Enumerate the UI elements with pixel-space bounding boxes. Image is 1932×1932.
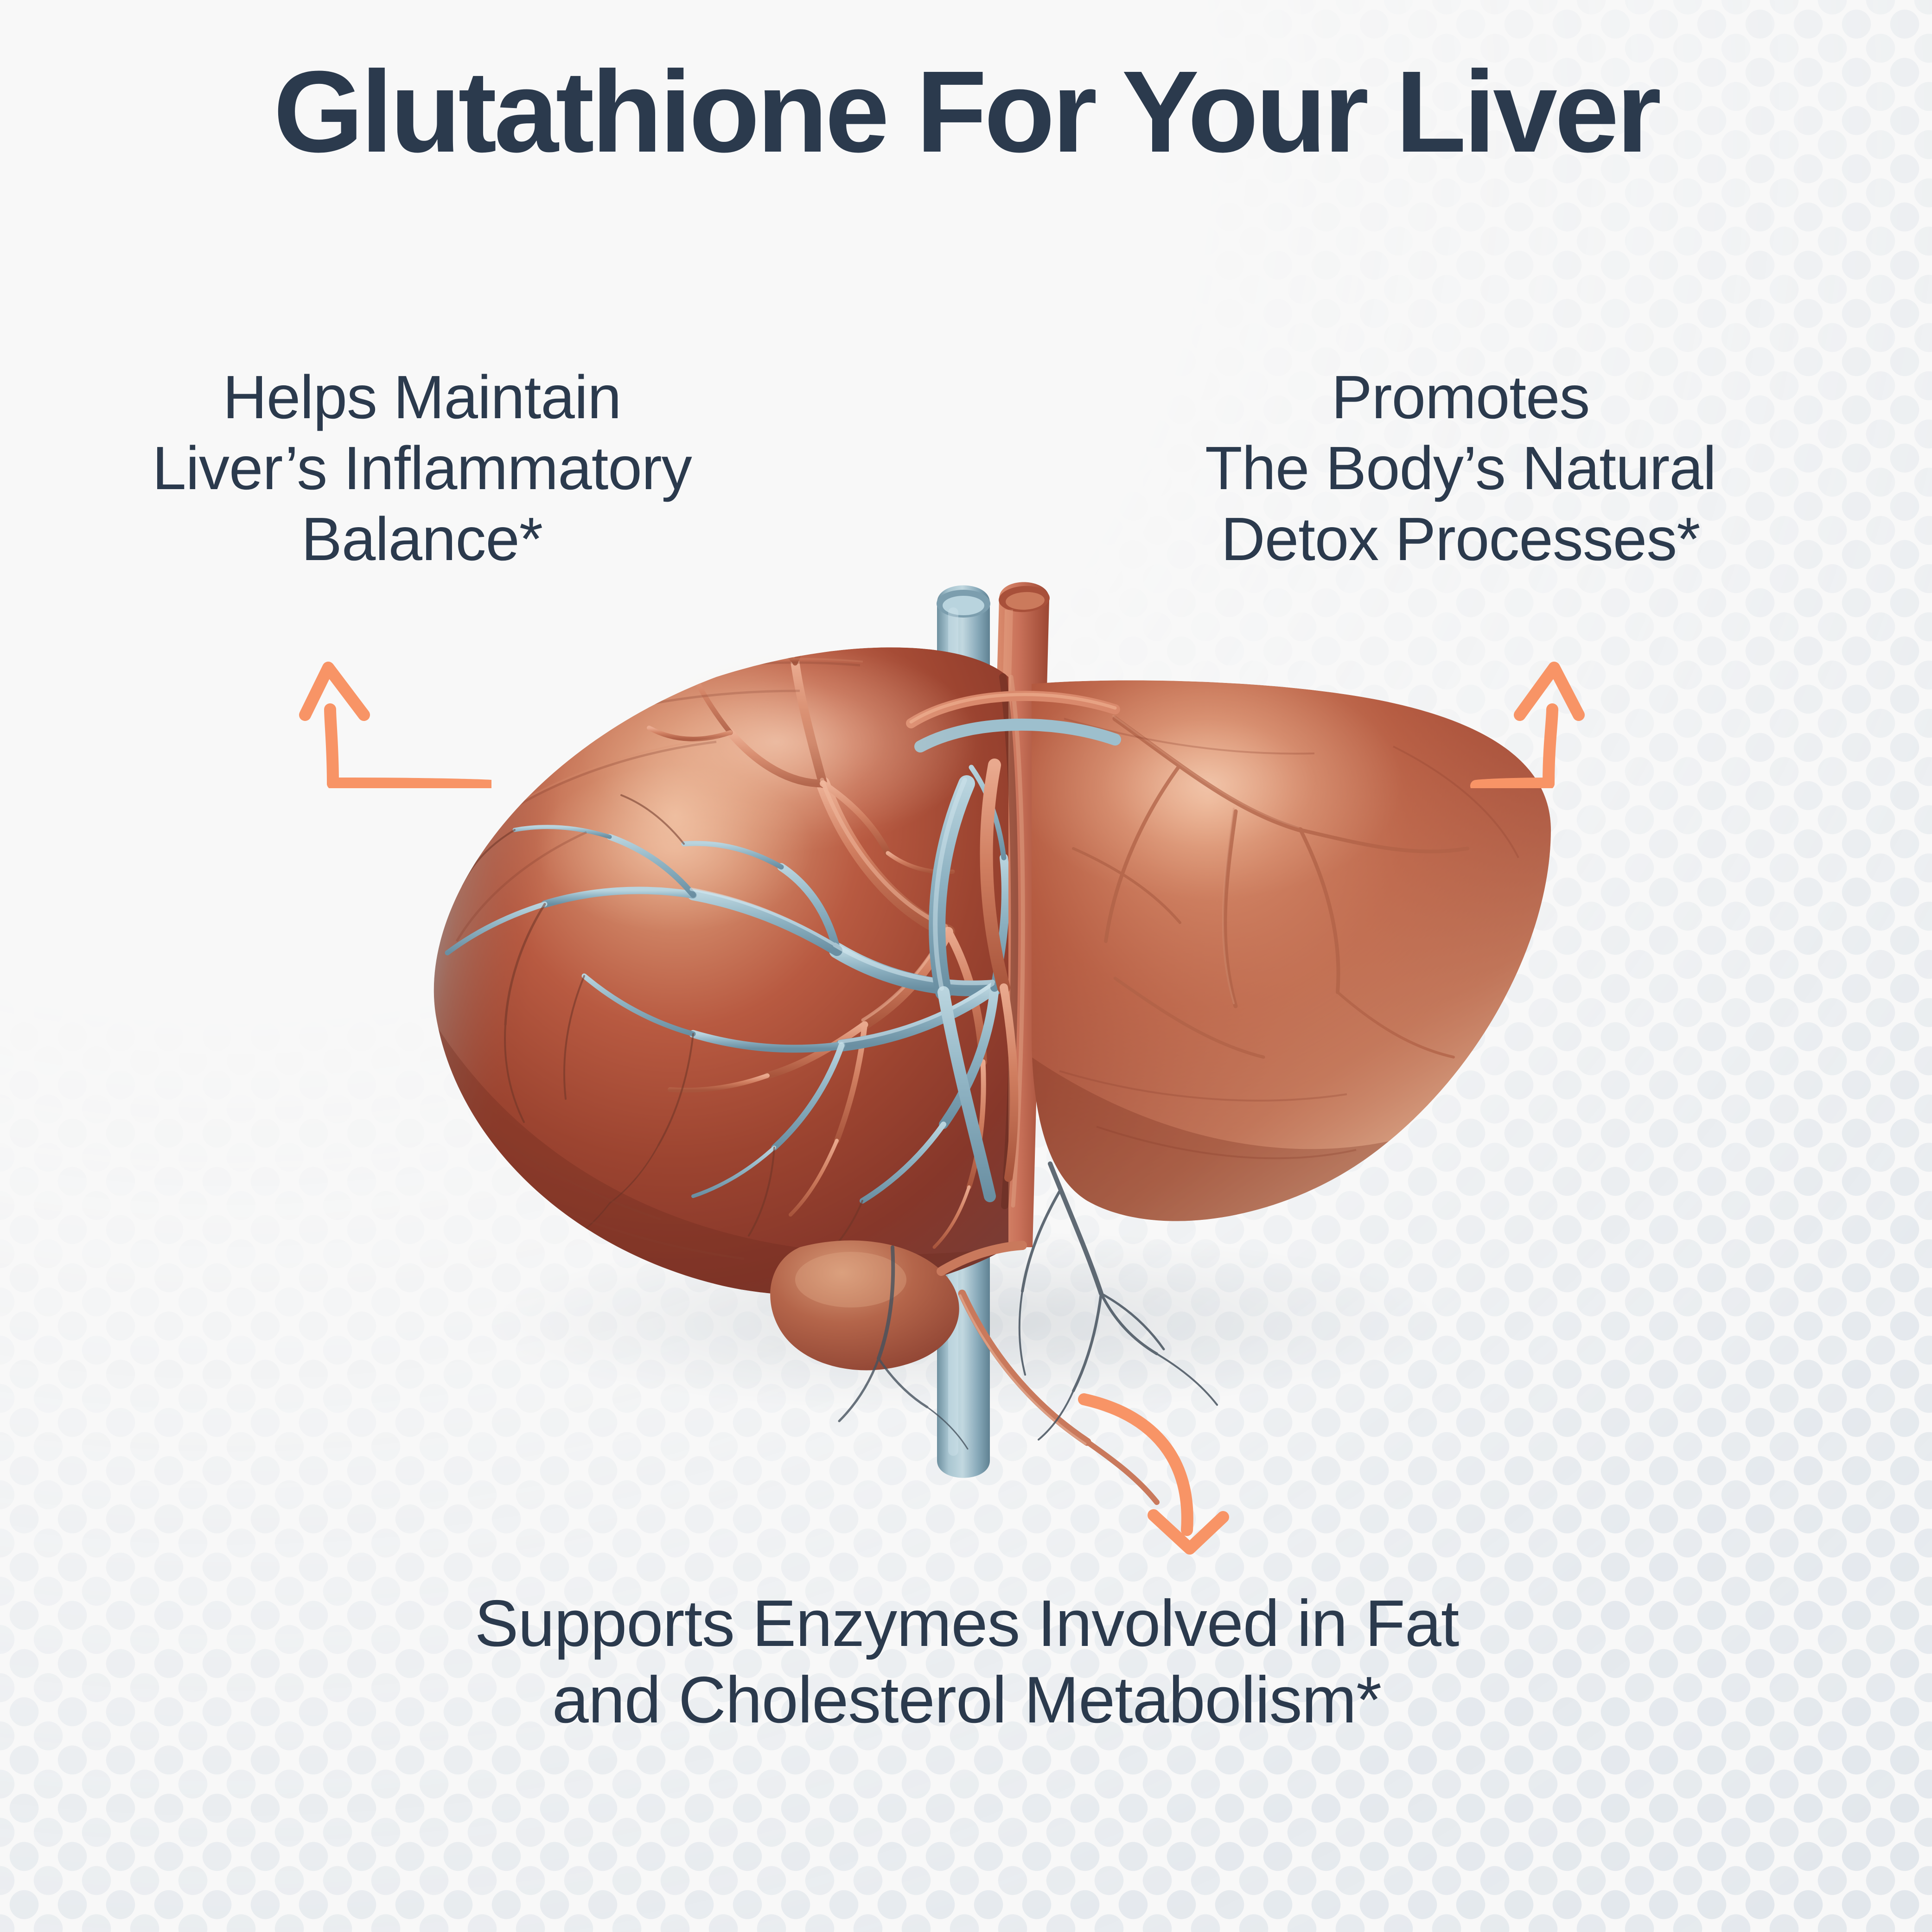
- callout-left-line-3: Balance*: [60, 504, 784, 574]
- callout-right-line-2: The Body’s Natural: [1085, 433, 1836, 504]
- callout-bottom-line-1: Supports Enzymes Involved in Fat: [260, 1586, 1674, 1662]
- page-title: Glutathione For Your Liver: [0, 51, 1932, 173]
- callout-right-line-3: Detox Processes*: [1085, 504, 1836, 574]
- callout-bottom-line-2: and Cholesterol Metabolism*: [260, 1662, 1674, 1739]
- liver-right-lobe: [1013, 663, 1579, 1266]
- callout-right-line-1: Promotes: [1085, 362, 1836, 433]
- callout-left-line-2: Liver’s Inflammatory: [60, 433, 784, 504]
- callout-left-line-1: Helps Maintain: [60, 362, 784, 433]
- infographic-canvas: Glutathione For Your Liver Helps Maintai…: [0, 0, 1932, 1932]
- liver-illustration: [392, 524, 1579, 1576]
- callout-supports-fat-cholesterol-enzymes: Supports Enzymes Involved in Fat and Cho…: [260, 1586, 1674, 1738]
- callout-promotes-natural-detox: Promotes The Body’s Natural Detox Proces…: [1085, 362, 1836, 574]
- callout-helps-maintain-inflammatory-balance: Helps Maintain Liver’s Inflammatory Bala…: [60, 362, 784, 574]
